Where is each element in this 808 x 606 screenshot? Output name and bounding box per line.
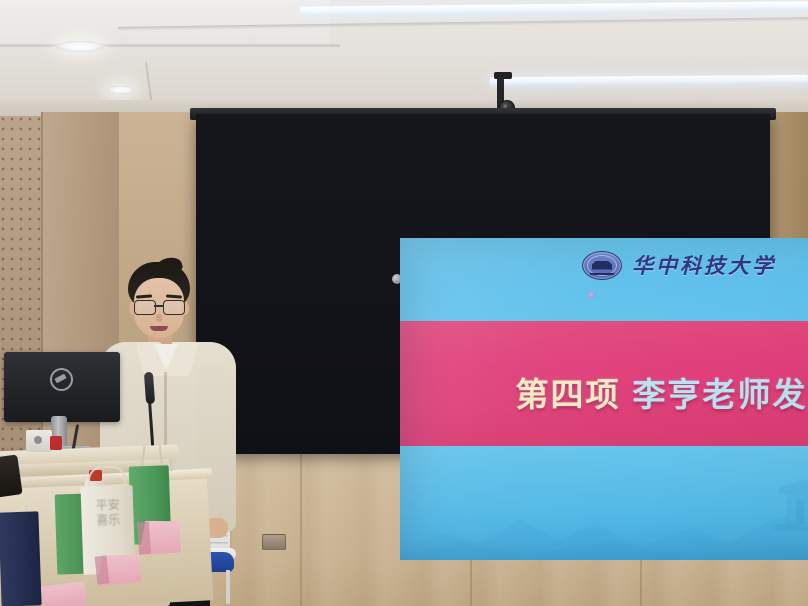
glasses-lens — [134, 300, 156, 315]
pavilion-watermark — [766, 460, 808, 538]
slide-header: 华中科技大学 — [400, 250, 808, 280]
name-card — [41, 581, 88, 606]
list-item — [0, 511, 42, 606]
slide-title: 第四项李亨老师发言 — [400, 368, 808, 416]
presenter-nose — [156, 314, 162, 322]
dell-monitor — [4, 352, 120, 444]
glasses-bridge — [154, 305, 163, 307]
blossom-icon — [586, 290, 596, 299]
red-item — [50, 436, 62, 450]
conference-room-scene: 华中科技大学 第四项李亨老师发言 — [0, 0, 808, 606]
glasses-lens — [163, 300, 185, 315]
monitor-back-panel — [4, 352, 120, 422]
wood-seam — [300, 452, 302, 606]
ceiling — [0, 0, 808, 122]
downlight-icon — [108, 86, 134, 94]
wall-outlet — [262, 534, 286, 550]
control-box-knob — [34, 436, 42, 444]
presenter-mouth — [150, 326, 168, 331]
strip-light — [300, 1, 808, 15]
seal-emblem — [592, 261, 612, 270]
name-card-fold — [137, 522, 151, 555]
ceiling-slab — [0, 0, 330, 46]
seal-base-bar — [590, 273, 614, 275]
ceiling-shadow — [0, 44, 340, 47]
mountain-watermark — [400, 472, 808, 560]
projection-screen-frame: 华中科技大学 第四项李亨老师发言 — [196, 114, 770, 454]
downlight-icon — [56, 41, 104, 52]
strip-light — [490, 75, 808, 85]
dell-logo-icon — [50, 368, 73, 391]
projected-slide: 华中科技大学 第四项李亨老师发言 — [400, 238, 808, 560]
eyeglasses-icon — [133, 300, 185, 313]
slide-title-part-b: 李亨老师发言 — [633, 375, 808, 414]
gift-bag-text: 平安喜乐 — [93, 498, 122, 529]
slide-title-part-a: 第四项 — [516, 375, 621, 414]
university-seal-icon — [582, 251, 622, 280]
university-name: 华中科技大学 — [632, 250, 776, 280]
